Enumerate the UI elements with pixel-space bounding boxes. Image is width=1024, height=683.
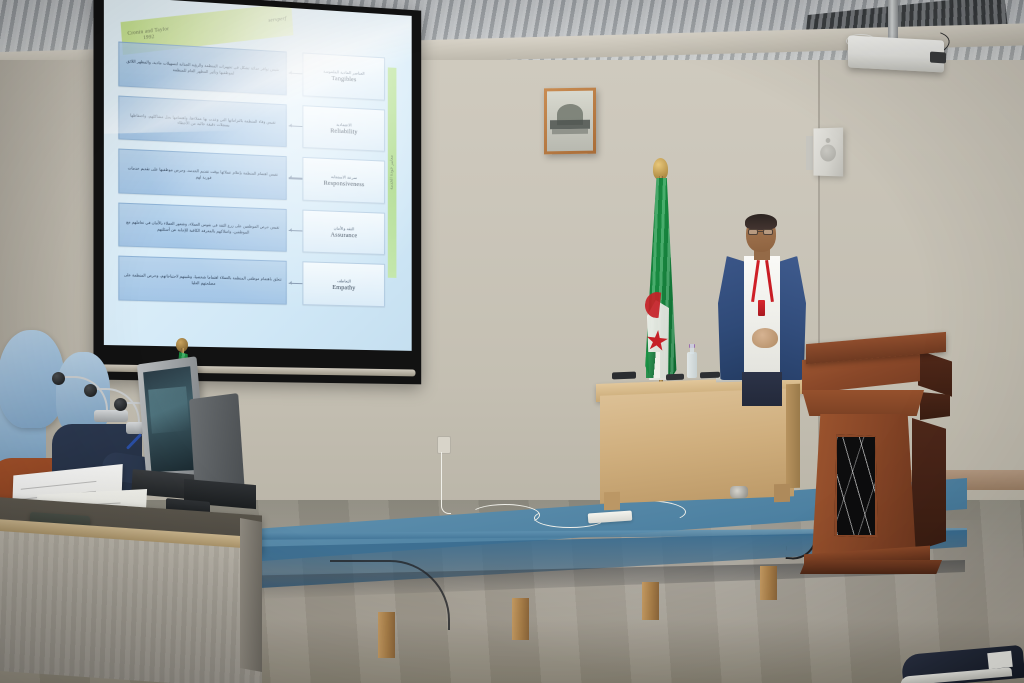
panel-desk-side xyxy=(240,518,262,672)
podium-body-side xyxy=(912,418,946,552)
water-bottle-icon[interactable] xyxy=(687,344,697,378)
side-bar-label: معايير جودة الخدمة xyxy=(390,155,395,190)
panel-desk-texture xyxy=(0,531,262,683)
dimension-label-ar: سرعة الاستجابة xyxy=(331,174,357,180)
desk-flag-icon xyxy=(646,352,660,378)
podium-plinth xyxy=(800,560,942,574)
picture-landscape-band xyxy=(550,120,590,130)
presenter-person xyxy=(714,216,806,396)
panel-laptop-lid xyxy=(189,393,245,490)
description-box: تتعلق باهتمام موظفي المنظمة بالعملاء اهت… xyxy=(118,256,287,305)
screen-surface: Cronin and Taylor 1992 servperf تقيس توا… xyxy=(104,0,412,351)
eyeglasses-icon xyxy=(763,229,773,235)
panel-laptop-secondary[interactable] xyxy=(190,396,252,516)
description-box: تقيس اهتمام المنظمة بإعلام عملائها بوقت … xyxy=(118,149,287,200)
podium-band-side xyxy=(920,392,950,420)
dimension-label-ar: التعاطف xyxy=(337,278,351,283)
description-text: تقيس حرص الموظفين على زرع الثقة في نفوس … xyxy=(123,219,281,236)
eyeglasses-icon xyxy=(748,229,758,235)
wall-speaker-icon xyxy=(813,128,843,177)
projection-screen: Cronin and Taylor 1992 servperf تقيس توا… xyxy=(96,0,426,382)
extension-cable xyxy=(470,504,540,526)
podium-marble-inlay xyxy=(834,434,878,538)
speaker-bracket xyxy=(806,136,813,170)
stage-leg xyxy=(512,598,529,640)
desk-device xyxy=(666,374,684,381)
dimension-label-en: Assurance xyxy=(331,232,358,240)
shoe-sock xyxy=(987,651,1013,669)
bottle-body xyxy=(687,352,697,378)
panel-laptop-glare xyxy=(148,386,190,433)
stage-leg xyxy=(642,582,659,620)
name-badge xyxy=(758,300,765,316)
slide-swoosh-decoration xyxy=(104,13,412,135)
microphone-head-icon xyxy=(114,398,127,411)
picture-foreground-band xyxy=(552,129,589,134)
picture-artwork xyxy=(547,91,593,152)
microphone-head-icon xyxy=(52,372,65,385)
hair xyxy=(745,214,777,230)
desk-device xyxy=(612,372,636,380)
speaker-cone-icon xyxy=(820,144,836,161)
dimension-box: التعاطف Empathy xyxy=(303,262,385,307)
connector-arrow-icon xyxy=(289,156,303,200)
trousers xyxy=(742,372,782,406)
dimension-label-ar: الثقة والأمان xyxy=(334,226,354,232)
dimension-box: سرعة الاستجابة Responsiveness xyxy=(303,157,385,204)
dimension-box: الثقة والأمان Assurance xyxy=(303,209,385,255)
description-text: تتعلق باهتمام موظفي المنظمة بالعملاء اهت… xyxy=(123,272,281,288)
dimension-label-en: Empathy xyxy=(332,284,355,292)
conference-room-scene: Cronin and Taylor 1992 servperf تقيس توا… xyxy=(0,0,1024,683)
projector-lens-icon xyxy=(930,52,946,64)
microphone-head-icon xyxy=(84,384,97,397)
desk-castor-wheel xyxy=(730,486,748,498)
connector-arrow-icon xyxy=(289,261,303,305)
stage-leg xyxy=(760,566,777,600)
presenter-desk-side xyxy=(786,384,800,488)
description-text: تقيس اهتمام المنظمة بإعلام عملائها بوقت … xyxy=(123,165,281,184)
screen-frame: Cronin and Taylor 1992 servperf تقيس توا… xyxy=(93,0,421,384)
eyeglasses-bridge xyxy=(758,231,763,232)
presenter-desk-leg xyxy=(774,484,790,503)
connector-arrow-icon xyxy=(289,209,303,253)
speaker-tweeter-icon xyxy=(826,138,831,143)
wooden-podium xyxy=(800,338,952,578)
description-box: تقيس حرص الموظفين على زرع الثقة في نفوس … xyxy=(118,202,287,252)
presenter-desk-leg xyxy=(604,492,620,511)
podium-band-front xyxy=(802,390,924,416)
dimension-label-en: Responsiveness xyxy=(324,179,365,188)
wall-cable xyxy=(441,452,451,514)
wall-picture-frame xyxy=(544,88,596,155)
clasped-hands xyxy=(752,328,778,348)
